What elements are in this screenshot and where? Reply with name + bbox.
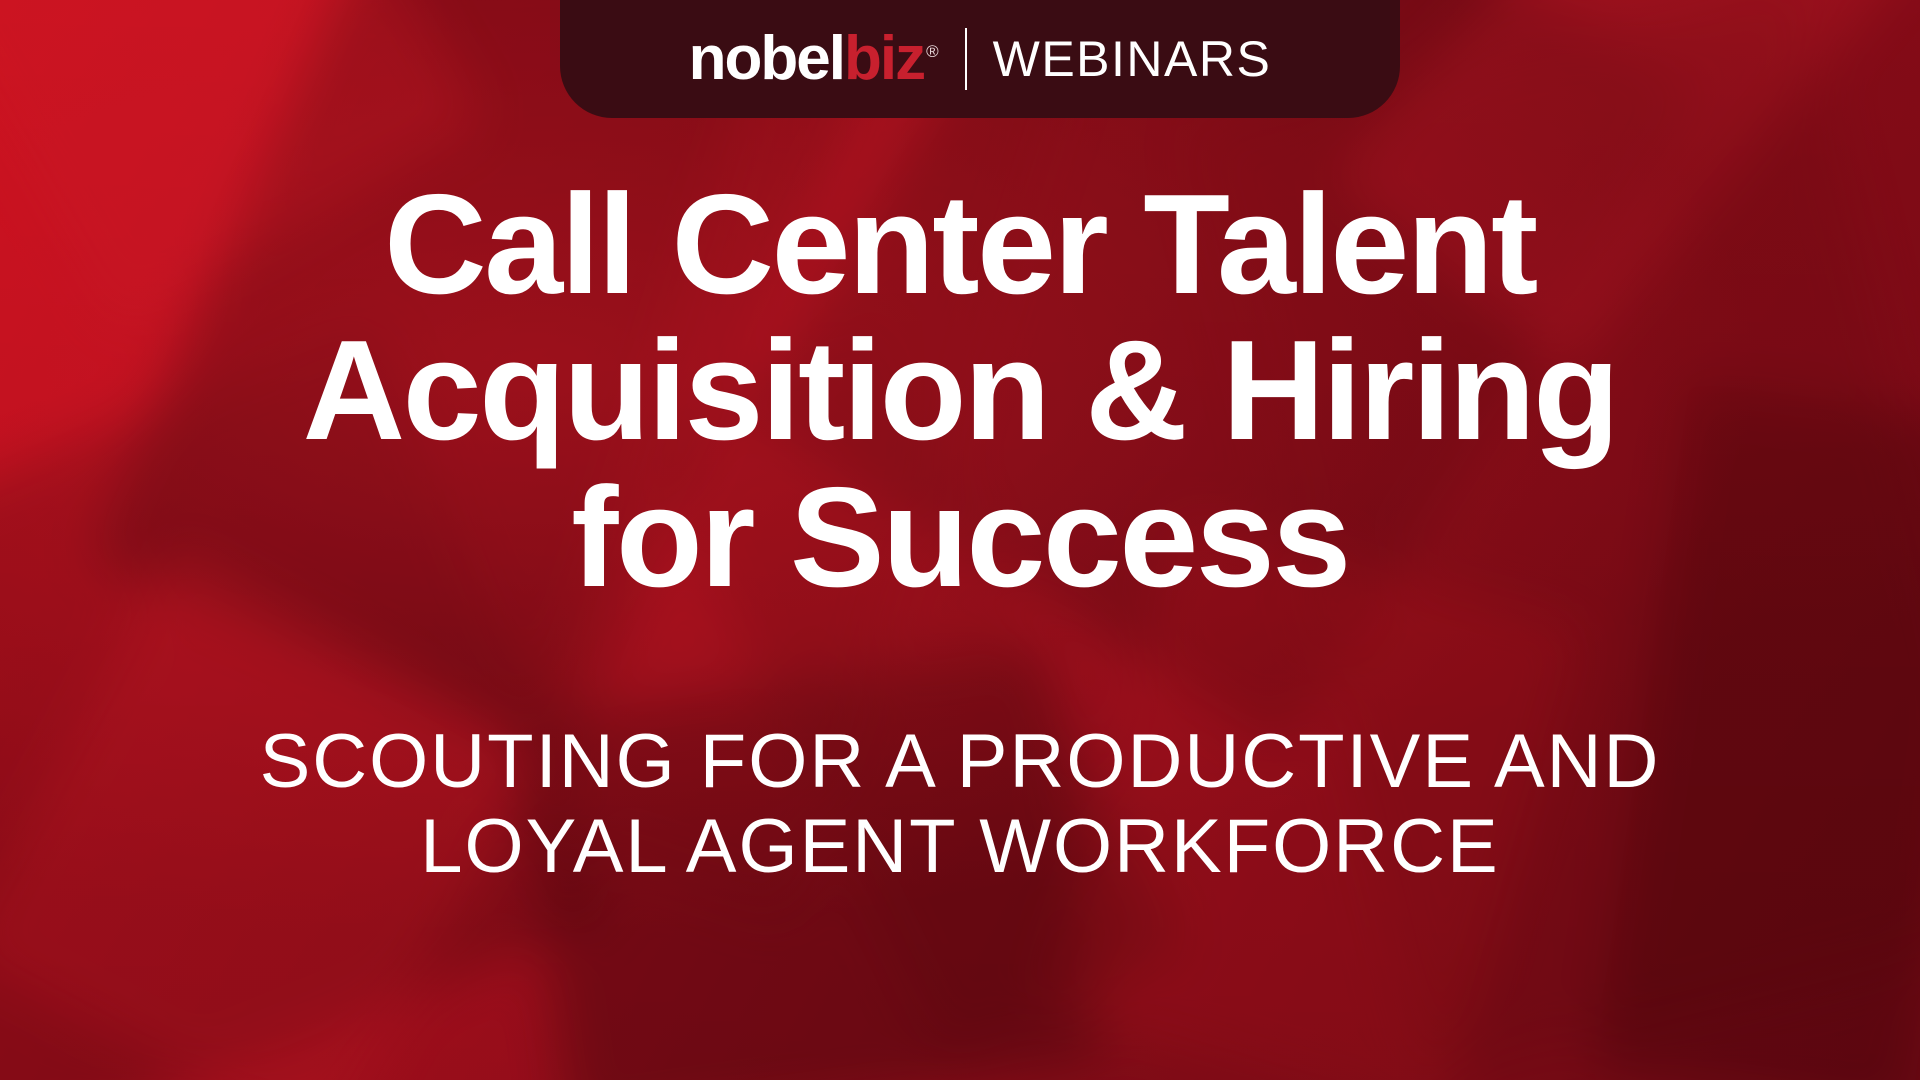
title-line-3: for Success xyxy=(50,465,1870,611)
slide-content: Call Center Talent Acquisition & Hiring … xyxy=(0,0,1920,1080)
webinar-title-slide: nobelbiz® WEBINARS Call Center Talent Ac… xyxy=(0,0,1920,1080)
brand-logo-nobel: nobel xyxy=(689,24,844,93)
brand-logo: nobelbiz® xyxy=(689,28,939,90)
page-subtitle: SCOUTING FOR A PRODUCTIVE AND LOYAL AGEN… xyxy=(50,719,1870,889)
badge-divider xyxy=(965,28,967,90)
page-title: Call Center Talent Acquisition & Hiring … xyxy=(50,172,1870,611)
registered-trademark-icon: ® xyxy=(926,42,939,61)
brand-badge: nobelbiz® WEBINARS xyxy=(560,0,1400,118)
badge-label: WEBINARS xyxy=(993,34,1272,84)
brand-logo-biz: biz xyxy=(844,24,924,93)
title-line-2: Acquisition & Hiring xyxy=(50,318,1870,464)
subtitle-line-2: LOYAL AGENT WORKFORCE xyxy=(50,804,1870,889)
subtitle-line-1: SCOUTING FOR A PRODUCTIVE AND xyxy=(50,719,1870,804)
title-line-1: Call Center Talent xyxy=(50,172,1870,318)
